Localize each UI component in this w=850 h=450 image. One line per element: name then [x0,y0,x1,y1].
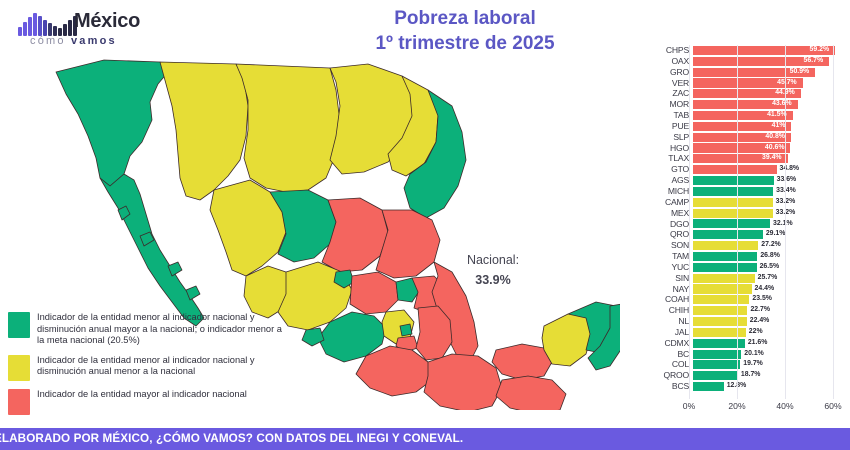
logo-bar [43,20,47,36]
state-zac [322,198,388,272]
bar-value-label: 33.6% [777,175,797,186]
bar-track: 20.1% [693,349,845,360]
national-label: Nacional: [438,250,548,270]
legend-color-swatch [8,355,30,381]
bar-track: 33.2% [693,208,845,219]
x-axis-tick-label: 0% [683,401,695,411]
chart-x-axis: 0%20%40%60% [689,401,845,417]
chart-bar-row[interactable]: OAX56.7% [645,56,845,67]
chart-bar-row[interactable]: CHIH22.7% [645,305,845,316]
bar-track: 23.5% [693,294,845,305]
state-poverty-bar-chart: CHPS59.2%OAX56.7%GRO50.9%VER45.7%ZAC44.9… [645,45,845,417]
legend-item: Indicador de la entidad menor al indicad… [8,355,288,381]
chart-bar-row[interactable]: VER45.7% [645,78,845,89]
legend-color-swatch [8,389,30,415]
footer-credit: ELABORADO POR MÉXICO, ¿CÓMO VAMOS? CON D… [0,431,463,447]
chart-bar-row[interactable]: COL19.7% [645,359,845,370]
bar-category-label: BC [645,349,693,360]
bar-category-label: QRO [645,229,693,240]
title-line-1: Pobreza laboral [300,6,630,31]
logo-bar [38,16,42,36]
bar-value-label: 45.7% [777,78,797,89]
bar-track: 24.4% [693,284,845,295]
chart-bar-row[interactable]: AGS33.6% [645,175,845,186]
chart-gridline [833,45,834,399]
x-axis-tick-label: 60% [824,401,841,411]
bar-track: 33.2% [693,197,845,208]
bar-category-label: TLAX [645,153,693,164]
bar-track: 44.9% [693,88,845,99]
chart-bar[interactable] [693,284,752,293]
bar-value-label: 32.1% [773,219,793,230]
legend-color-swatch [8,312,30,338]
bar-value-label: 26.8% [760,251,780,262]
chart-bar-row[interactable]: YUC26.5% [645,262,845,273]
chart-bar-row[interactable]: MEX33.2% [645,208,845,219]
bar-track: 22.4% [693,316,845,327]
chart-bar[interactable] [693,295,749,304]
brand-name: México [74,10,140,33]
chart-bar[interactable] [693,274,755,283]
state-tab [492,344,552,380]
chart-bar-row[interactable]: TLAX39.4% [645,153,845,164]
brand-tagline-bold: vamos [71,35,117,47]
chart-bar[interactable] [693,306,747,315]
x-axis-tick-label: 20% [728,401,745,411]
chart-bar[interactable] [693,360,740,369]
bar-category-label: CAMP [645,197,693,208]
bar-category-label: YUC [645,262,693,273]
chart-bar[interactable] [693,176,774,185]
chart-bar[interactable] [693,263,757,272]
bar-category-label: CDMX [645,338,693,349]
bar-track: 50.9% [693,67,845,78]
bar-value-label: 22.4% [750,316,770,327]
bar-track: 40.8% [693,132,845,143]
bar-track: 12.8% [693,381,845,392]
bar-category-label: MEX [645,208,693,219]
bar-track: 19.7% [693,359,845,370]
bar-value-label: 24.4% [755,284,775,295]
chart-bar-row[interactable]: NL22.4% [645,316,845,327]
bar-value-label: 34.8% [780,164,800,175]
state-chih [236,64,340,192]
chart-bar[interactable] [693,252,757,261]
bar-track: 56.7% [693,56,845,67]
chart-bar[interactable] [693,241,758,250]
bar-category-label: OAX [645,56,693,67]
national-indicator: Nacional: 33.9% [438,250,548,290]
bar-value-label: 56.7% [804,56,824,67]
poster-root: México cómo vamos Pobreza laboral 1º tri… [0,0,850,450]
chart-gridline [737,45,738,399]
brand-logo: México cómo vamos [18,8,158,54]
legend-item: Indicador de la entidad menor al indicad… [8,312,288,347]
bar-value-label: 19.7% [743,359,763,370]
bar-value-label: 27.2% [761,240,781,251]
chart-bar[interactable] [693,209,773,218]
state-chps [496,376,566,410]
bar-value-label: 50.9% [790,67,810,78]
bar-track: 33.6% [693,175,845,186]
chart-bar[interactable] [693,187,773,196]
legend-label: Indicador de la entidad mayor al indicad… [37,389,247,401]
bar-track: 27.2% [693,240,845,251]
chart-bar-row[interactable]: TAM26.8% [645,251,845,262]
chart-bar[interactable] [693,165,777,174]
state-cdmx [400,324,412,336]
bar-category-label: MICH [645,186,693,197]
bar-track: 21.6% [693,338,845,349]
bar-value-label: 22% [749,327,763,338]
chart-bar-row[interactable]: QROO18.7% [645,370,845,381]
bar-value-label: 29.1% [766,229,786,240]
chart-bar[interactable] [693,230,763,239]
bar-value-label: 26.5% [760,262,780,273]
bar-value-label: 41% [772,121,786,132]
bar-category-label: CHIH [645,305,693,316]
bar-category-label: ZAC [645,88,693,99]
chart-bar-row[interactable]: CHPS59.2% [645,45,845,56]
bar-category-label: GTO [645,164,693,175]
chart-bar-row[interactable]: GTO34.8% [645,164,845,175]
bar-value-label: 20.1% [744,349,764,360]
chart-bar-row[interactable]: BC20.1% [645,349,845,360]
bar-track: 43.6% [693,99,845,110]
legend-item: Indicador de la entidad mayor al indicad… [8,389,288,415]
bar-wave-logo-icon [18,10,78,36]
national-value: 33.9% [438,270,548,290]
chart-bar-row[interactable]: ZAC44.9% [645,88,845,99]
state-oax [424,354,502,410]
bar-category-label: QROO [645,370,693,381]
bar-category-label: GRO [645,67,693,78]
bar-category-label: SON [645,240,693,251]
bar-category-label: TAM [645,251,693,262]
bar-value-label: 23.5% [752,294,772,305]
legend-label: Indicador de la entidad menor al indicad… [37,355,288,378]
chart-bar-row[interactable]: SIN25.7% [645,273,845,284]
bar-track: 34.8% [693,164,845,175]
chart-bar-row[interactable]: HGO40.6% [645,143,845,154]
bar-category-label: SIN [645,273,693,284]
chart-bar-row[interactable]: NAY24.4% [645,284,845,295]
bar-category-label: NL [645,316,693,327]
bar-category-label: SLP [645,132,693,143]
chart-bar-row[interactable]: SLP40.8% [645,132,845,143]
chart-bar[interactable] [693,219,770,228]
bar-category-label: AGS [645,175,693,186]
chart-bar-row[interactable]: QRO29.1% [645,229,845,240]
bar-track: 41% [693,121,845,132]
bar-value-label: 41.5% [767,110,787,121]
logo-bar [68,20,72,36]
chart-gridline [689,45,690,399]
chart-bar-row[interactable]: COAH23.5% [645,294,845,305]
chart-bar-row[interactable]: GRO50.9% [645,67,845,78]
bar-track: 33.4% [693,186,845,197]
page-title: Pobreza laboral 1º trimestre de 2025 [300,6,630,56]
chart-rows: CHPS59.2%OAX56.7%GRO50.9%VER45.7%ZAC44.9… [645,45,845,392]
map-legend: Indicador de la entidad menor al indicad… [8,312,288,423]
bar-category-label: MOR [645,99,693,110]
chart-bar-row[interactable]: CDMX21.6% [645,338,845,349]
chart-bar[interactable] [693,382,724,391]
x-axis-tick-label: 40% [776,401,793,411]
brand-tagline-light: cómo [30,35,71,47]
logo-bar [23,22,27,36]
bar-category-label: JAL [645,327,693,338]
bar-value-label: 39.4% [762,153,782,164]
bar-value-label: 40.8% [765,132,785,143]
chart-bar-row[interactable]: CAMP33.2% [645,197,845,208]
logo-bar [28,17,32,36]
bar-track: 41.5% [693,110,845,121]
chart-bar[interactable] [693,198,773,207]
bar-track: 59.2% [693,45,845,56]
chart-bar-row[interactable]: BCS12.8% [645,381,845,392]
bar-category-label: COL [645,359,693,370]
bar-value-label: 21.6% [748,338,768,349]
bar-value-label: 18.7% [741,370,761,381]
bar-track: 29.1% [693,229,845,240]
chart-bar[interactable] [693,371,738,380]
chart-bar-row[interactable]: TAB41.5% [645,110,845,121]
state-slp [376,210,440,278]
bar-track: 22.7% [693,305,845,316]
bar-track: 18.7% [693,370,845,381]
bar-category-label: DGO [645,219,693,230]
bar-category-label: HGO [645,143,693,154]
bar-category-label: TAB [645,110,693,121]
chart-bar-row[interactable]: MOR43.6% [645,99,845,110]
bar-category-label: COAH [645,294,693,305]
bar-track: 26.5% [693,262,845,273]
chart-bar[interactable] [693,350,741,359]
bar-value-label: 43.6% [772,99,792,110]
bar-track: 32.1% [693,219,845,230]
bar-track: 26.8% [693,251,845,262]
bar-track: 40.6% [693,143,845,154]
logo-bar [18,27,22,36]
bar-category-label: PUE [645,121,693,132]
bar-track: 45.7% [693,78,845,89]
bar-category-label: NAY [645,284,693,295]
chart-bar-row[interactable]: MICH33.4% [645,186,845,197]
bar-track: 39.4% [693,153,845,164]
brand-tagline: cómo vamos [30,35,117,47]
bar-track: 22% [693,327,845,338]
chart-bar-row[interactable]: PUE41% [645,121,845,132]
state-son [160,62,248,200]
bar-category-label: BCS [645,381,693,392]
bar-track: 25.7% [693,273,845,284]
footer-bar: ELABORADO POR MÉXICO, ¿CÓMO VAMOS? CON D… [0,428,850,450]
bar-value-label: 59.2% [810,45,830,56]
bar-value-label: 25.7% [758,273,778,284]
bar-category-label: VER [645,78,693,89]
chart-bar-row[interactable]: JAL22% [645,327,845,338]
state-gto [350,272,398,314]
state-camp [542,314,592,366]
chart-bar-row[interactable]: SON27.2% [645,240,845,251]
chart-bar-row[interactable]: DGO32.1% [645,219,845,230]
logo-bar [33,13,37,36]
chart-gridline [785,45,786,399]
bar-value-label: 22.7% [750,305,770,316]
state-bc [56,60,168,186]
bar-value-label: 40.6% [765,143,785,154]
bar-category-label: CHPS [645,45,693,56]
legend-label: Indicador de la entidad menor al indicad… [37,312,288,347]
chart-bar[interactable] [693,317,747,326]
